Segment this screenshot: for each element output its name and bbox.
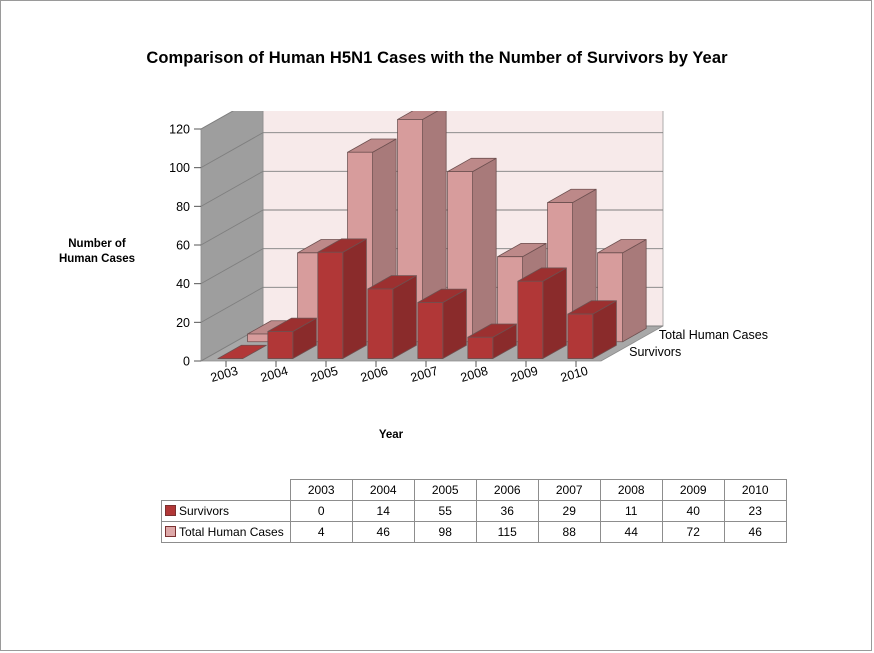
x-axis-category-label: 2005 <box>309 364 340 385</box>
x-axis-category-labels: 20032004200520062007200820092010 <box>209 361 590 385</box>
table-row-label-text: Total Human Cases <box>179 525 284 539</box>
table-column-header-2007: 2007 <box>538 480 600 501</box>
table-row: Total Human Cases4469811588447246 <box>162 522 787 543</box>
table-row: Survivors014553629114023 <box>162 501 787 522</box>
table-row-label: Total Human Cases <box>162 522 291 543</box>
bar-survivors-2009 <box>518 268 567 359</box>
x-axis-category-label: 2010 <box>559 364 590 385</box>
y-axis-tick-label: 80 <box>176 200 190 214</box>
x-axis-category-label: 2006 <box>359 364 390 385</box>
table-row-label-text: Survivors <box>179 504 229 518</box>
table-cell: 0 <box>290 501 352 522</box>
table-column-header-2004: 2004 <box>352 480 414 501</box>
x-axis-category-label: 2008 <box>459 364 490 385</box>
x-axis-title: Year <box>331 429 451 441</box>
table-cell: 46 <box>724 522 786 543</box>
table-cell: 23 <box>724 501 786 522</box>
chart-svg: 020406080100120 200320042005200620072008… <box>151 111 771 421</box>
y-axis-tick-label: 0 <box>183 355 190 369</box>
x-axis-category-label: 2009 <box>509 364 540 385</box>
legend-swatch-icon <box>165 505 176 516</box>
bar-survivors-2007 <box>418 289 467 358</box>
bar-survivors-2006 <box>368 276 417 359</box>
y-axis-title-line-1: Number of <box>37 237 157 252</box>
x-axis-category-label: 2003 <box>209 364 240 385</box>
table-row-label: Survivors <box>162 501 291 522</box>
y-axis-tick-label: 40 <box>176 277 190 291</box>
y-axis-ticks: 020406080100120 <box>169 123 201 369</box>
table-cell: 115 <box>476 522 538 543</box>
table-column-header-2008: 2008 <box>600 480 662 501</box>
table-column-header-2009: 2009 <box>662 480 724 501</box>
x-axis-category-label: 2004 <box>259 364 290 385</box>
x-axis-category-label: 2007 <box>409 364 440 385</box>
data-table: 20032004200520062007200820092010Survivor… <box>161 479 787 543</box>
table-cell: 72 <box>662 522 724 543</box>
table-header-row: 20032004200520062007200820092010 <box>162 480 787 501</box>
table-cell: 55 <box>414 501 476 522</box>
bar-survivors-2005 <box>318 239 367 359</box>
y-axis-tick-label: 60 <box>176 239 190 253</box>
table-corner-cell <box>162 480 291 501</box>
y-axis-title-line-2: Human Cases <box>37 252 157 267</box>
table-cell: 98 <box>414 522 476 543</box>
y-axis-title: Number of Human Cases <box>37 237 157 267</box>
table-cell: 46 <box>352 522 414 543</box>
y-axis-tick-label: 120 <box>169 123 190 137</box>
table-column-header-2003: 2003 <box>290 480 352 501</box>
z-axis-series-label: Survivors <box>629 345 681 359</box>
y-axis-tick-label: 20 <box>176 316 190 330</box>
table-cell: 11 <box>600 501 662 522</box>
table-cell: 36 <box>476 501 538 522</box>
table-column-header-2005: 2005 <box>414 480 476 501</box>
y-axis-tick-label: 100 <box>169 161 190 175</box>
table-column-header-2010: 2010 <box>724 480 786 501</box>
table-column-header-2006: 2006 <box>476 480 538 501</box>
legend-swatch-icon <box>165 526 176 537</box>
table-cell: 29 <box>538 501 600 522</box>
z-axis-series-label: Total Human Cases <box>659 328 768 342</box>
table-cell: 40 <box>662 501 724 522</box>
chart-title: Comparison of Human H5N1 Cases with the … <box>1 49 873 68</box>
table-cell: 14 <box>352 501 414 522</box>
table-cell: 88 <box>538 522 600 543</box>
table-cell: 4 <box>290 522 352 543</box>
chart-plot-3d: 020406080100120 200320042005200620072008… <box>151 111 771 421</box>
table-cell: 44 <box>600 522 662 543</box>
chart-page: Comparison of Human H5N1 Cases with the … <box>0 0 872 651</box>
data-table-container: 20032004200520062007200820092010Survivor… <box>161 479 787 543</box>
